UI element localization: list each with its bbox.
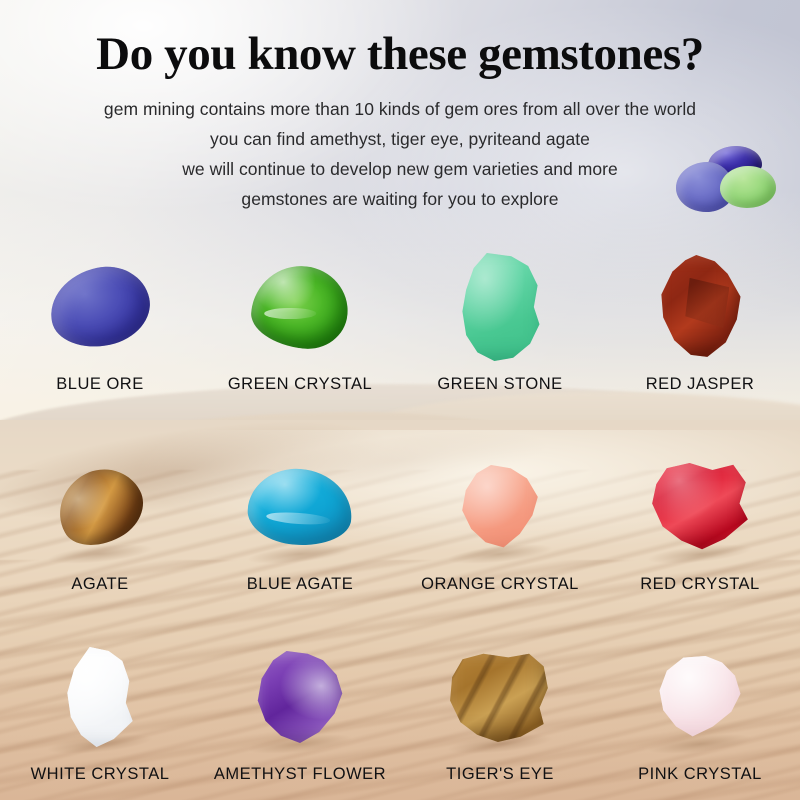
gem-caption-orange-crystal: ORANGE CRYSTAL [421, 575, 579, 594]
gem-stage [15, 248, 185, 366]
gem-stage [615, 248, 785, 366]
gem-cell-pink-crystal[interactable]: PINK CRYSTAL [600, 638, 800, 784]
gem-cell-green-crystal[interactable]: GREEN CRYSTAL [200, 248, 400, 394]
page-title: Do you know these gemstones? [0, 26, 800, 82]
gem-cell-tigers-eye[interactable]: TIGER'S EYE [400, 638, 600, 784]
tigers-eye-gem-image [448, 652, 552, 742]
gem-cell-red-jasper[interactable]: RED JASPER [600, 248, 800, 394]
gem-cell-blue-ore[interactable]: BLUE ORE [0, 248, 200, 394]
subtitle-line-1: gem mining contains more than 10 kinds o… [0, 94, 800, 124]
gem-row-sky: BLUE ORE GREEN CRYSTAL GREEN STONE RED J… [0, 248, 800, 394]
gem-caption-agate: AGATE [71, 575, 128, 594]
gem-stage [415, 638, 585, 756]
gemstone-poster: Do you know these gemstones? gem mining … [0, 0, 800, 800]
red-jasper-gem-image [654, 255, 746, 359]
gem-ground-shadow [47, 541, 152, 568]
amethyst-flower-gem-image [252, 651, 348, 743]
gem-caption-blue-ore: BLUE ORE [56, 375, 143, 394]
gem-stage [215, 638, 385, 756]
gem-stage [615, 638, 785, 756]
gem-stage [15, 638, 185, 756]
gem-caption-pink-crystal: PINK CRYSTAL [638, 765, 762, 784]
gem-stage [615, 448, 785, 566]
gem-caption-tigers-eye: TIGER'S EYE [446, 765, 554, 784]
white-crystal-gem-image [57, 647, 143, 747]
gem-cell-agate[interactable]: AGATE [0, 448, 200, 594]
agate-gem-image [45, 455, 155, 559]
gem-cell-red-crystal[interactable]: RED CRYSTAL [600, 448, 800, 594]
blue-ore-gem-image [43, 258, 157, 355]
decorative-gem-cluster [676, 146, 796, 222]
green-stone-gem-image [453, 253, 547, 361]
gem-stage [415, 248, 585, 366]
gem-cell-amethyst-flower[interactable]: AMETHYST FLOWER [200, 638, 400, 784]
gem-caption-white-crystal: WHITE CRYSTAL [31, 765, 170, 784]
gem-cell-green-stone[interactable]: GREEN STONE [400, 248, 600, 394]
gem-caption-red-jasper: RED JASPER [646, 375, 755, 394]
gem-caption-red-crystal: RED CRYSTAL [640, 575, 760, 594]
gem-stage [215, 448, 385, 566]
gem-caption-green-stone: GREEN STONE [437, 375, 562, 394]
green-crystal-gem-image [248, 261, 352, 353]
red-crystal-gem-image [648, 463, 752, 551]
gem-caption-amethyst-flower: AMETHYST FLOWER [214, 765, 386, 784]
gem-caption-blue-agate: BLUE AGATE [247, 575, 353, 594]
gem-cell-white-crystal[interactable]: WHITE CRYSTAL [0, 638, 200, 784]
gem-caption-green-crystal: GREEN CRYSTAL [228, 375, 372, 394]
gem-row-sand: WHITE CRYSTAL AMETHYST FLOWER TIGER'S EY… [0, 638, 800, 784]
orange-crystal-gem-image [455, 465, 545, 549]
gem-stage [15, 448, 185, 566]
pink-crystal-gem-image [654, 656, 746, 738]
gem-stage [215, 248, 385, 366]
gem-stage [415, 448, 585, 566]
gem-row-dune: AGATE BLUE AGATE ORANGE CRYSTAL RED CRYS… [0, 448, 800, 594]
gem-ground-shadow [647, 731, 752, 758]
gem-cell-blue-agate[interactable]: BLUE AGATE [200, 448, 400, 594]
blue-agate-gem-image [245, 465, 354, 548]
gem-cell-orange-crystal[interactable]: ORANGE CRYSTAL [400, 448, 600, 594]
light-green-gem-icon [720, 166, 776, 208]
